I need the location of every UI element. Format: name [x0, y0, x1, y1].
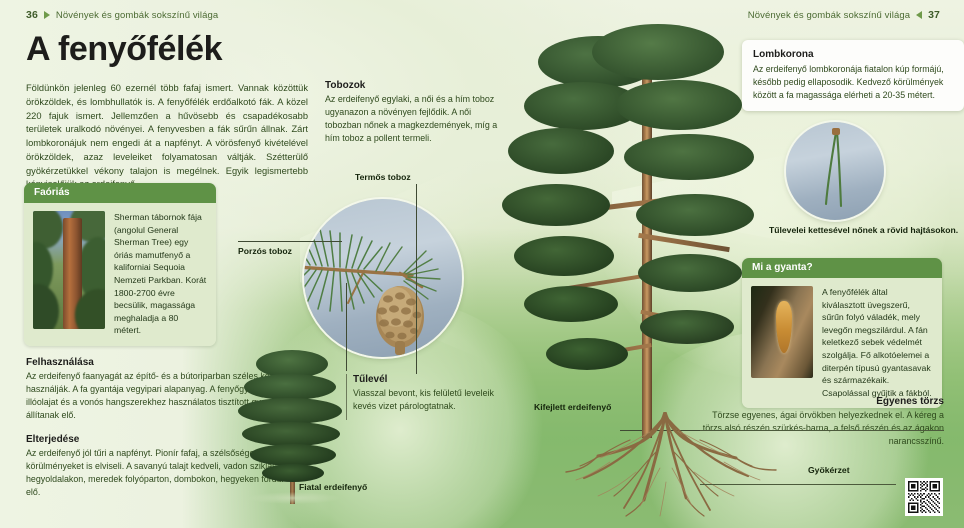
- section-tobozok-text: Az erdeifenyő egylaki, a női és a hím to…: [325, 93, 500, 145]
- callout-tulevel-caption: Tűlevelei kettesével nőnek a rövid hajtá…: [769, 225, 958, 235]
- section-tulevel: Tűlevél Viasszal bevont, kis felületű le…: [353, 374, 503, 413]
- root-system-illustration: [540, 412, 790, 524]
- section-tulevel-text: Viasszal bevont, kis felületű leveleik k…: [353, 387, 503, 413]
- page-number-left: 36: [26, 9, 38, 21]
- section-tobozok-heading: Tobozok: [325, 80, 500, 91]
- callout-termos-toboz-leader: [416, 184, 417, 374]
- infobox-faorias-title: Faóriás: [24, 183, 216, 203]
- infobox-faorias-text: Sherman tábornok fája (angolul General S…: [114, 211, 207, 337]
- section-tobozok: Tobozok Az erdeifenyő egylaki, a női és …: [325, 80, 500, 145]
- callout-gyokerzet: Gyökérzet: [808, 465, 850, 475]
- section-name-left: Növények és gombák sokszínű világa: [56, 10, 218, 21]
- tulevel-divider: [346, 374, 347, 420]
- infobox-gyanta-text: A fenyőfélék által kiválasztott üvegszer…: [822, 286, 933, 399]
- cone-inset-circle: [304, 199, 462, 357]
- triangle-left-icon: [916, 11, 922, 19]
- qr-code[interactable]: [905, 478, 943, 516]
- running-head-left: 36 Növények és gombák sokszínű világa: [26, 9, 218, 21]
- page-number-right: 37: [928, 9, 940, 21]
- section-tulevel-heading: Tűlevél: [353, 374, 503, 385]
- triangle-right-icon: [44, 11, 50, 19]
- callout-gyokerzet-leader: [700, 484, 896, 485]
- callout-porzos-toboz: Porzós toboz: [238, 246, 292, 256]
- adult-pine-tree-illustration: [520, 8, 790, 438]
- tulevel-pointer-leader: [346, 283, 347, 371]
- callout-termos-toboz: Termős toboz: [355, 172, 411, 182]
- callout-fiatal-erdeifenyo: Fiatal erdeifenyő: [299, 482, 367, 492]
- page-spread: 36 Növények és gombák sokszínű világa Nö…: [0, 0, 964, 528]
- general-sherman-sequoia-photo: [33, 211, 105, 329]
- callout-kifejlett-erdeifenyo: Kifejlett erdeifenyő: [534, 402, 611, 412]
- infobox-faorias-body: Sherman tábornok fája (angolul General S…: [24, 203, 216, 346]
- callout-porzos-toboz-leader: [238, 241, 342, 242]
- page-title: A fenyőfélék: [26, 30, 222, 69]
- infobox-faorias: Faóriás Sherman tábornok fája (angolul G…: [24, 183, 216, 346]
- needle-inset-circle: [786, 122, 884, 220]
- lead-paragraph: Földünkön jelenleg 60 ezernél több fafaj…: [26, 82, 308, 192]
